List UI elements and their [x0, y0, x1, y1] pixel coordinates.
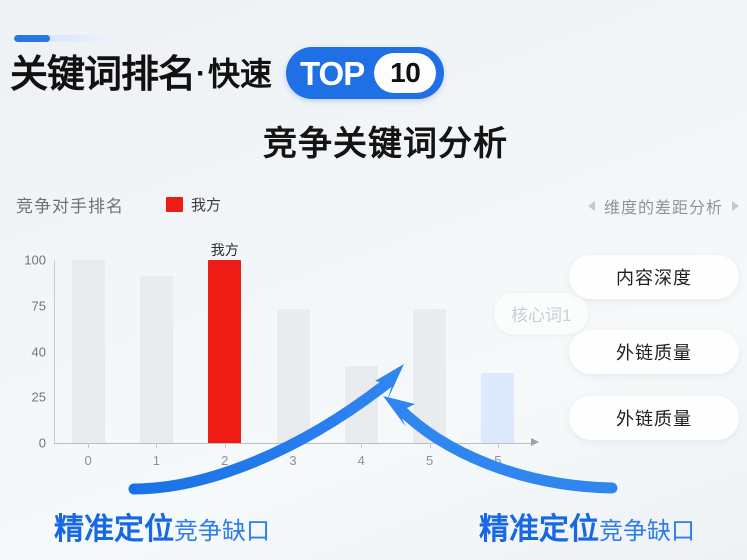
bar-competitor-1[interactable] — [140, 276, 173, 443]
header-progress-bar — [14, 35, 114, 42]
caption-left-weak: 竞争缺口 — [174, 511, 270, 546]
legend-item-label: 我方 — [191, 194, 221, 215]
x-axis-arrow-icon — [531, 438, 539, 446]
bar-competitor-5[interactable] — [413, 309, 446, 443]
bar-competitor-6[interactable] — [481, 373, 514, 443]
bar-competitor-3[interactable] — [277, 309, 310, 443]
x-axis-tick-3: 3 — [289, 453, 296, 468]
bar-highlight-label: 我方 — [211, 240, 239, 260]
x-axis-tick-mark-2 — [225, 443, 226, 448]
caption-left-strong: 精准定位 — [54, 504, 174, 548]
chevron-left-icon[interactable] — [588, 201, 595, 211]
caption-right-strong: 精准定位 — [479, 504, 599, 548]
dimension-pill-2[interactable]: 外链质量 — [569, 396, 739, 440]
y-axis-tick-3: 25 — [10, 390, 46, 405]
legend-swatch-icon — [166, 197, 183, 212]
x-axis-tick-mark-4 — [361, 443, 362, 448]
bar-competitor-0[interactable] — [72, 260, 105, 443]
dimension-panel-title: 维度的差距分析 — [604, 194, 723, 218]
x-axis-tick-2: 2 — [221, 453, 228, 468]
page-headline: 关键词排名 · 快速 — [10, 48, 272, 100]
x-axis-tick-mark-5 — [430, 443, 431, 448]
caption-right-weak: 竞争缺口 — [599, 511, 695, 546]
chart-bars-area: 我方 — [54, 248, 532, 443]
competitor-bar-chart: 1007540250 我方 0123455 — [0, 248, 545, 463]
chevron-right-icon[interactable] — [732, 201, 739, 211]
caption-right: 精准定位 竞争缺口 — [479, 504, 695, 548]
caption-left: 精准定位 竞争缺口 — [54, 504, 270, 548]
headline-main-text: 关键词排名 — [10, 55, 195, 93]
top-rank-badge-label: TOP — [300, 57, 364, 90]
x-axis-tick-0: 0 — [85, 453, 92, 468]
dimension-panel-header: 维度的差距分析 — [588, 194, 739, 218]
legend-item-mine[interactable]: 我方 — [166, 194, 221, 215]
x-axis-tick-mark-1 — [156, 443, 157, 448]
ghost-keyword-pill[interactable]: 核心词1 — [494, 293, 588, 334]
page-title: 竞争关键词分析 — [0, 116, 747, 165]
x-axis-tick-6: 5 — [494, 453, 501, 468]
y-axis-tick-0: 100 — [10, 253, 46, 268]
bar-highlight-mine[interactable] — [208, 260, 241, 443]
x-axis-tick-mark-3 — [293, 443, 294, 448]
dimension-pill-1[interactable]: 外链质量 — [569, 330, 739, 374]
top-rank-badge-number: 10 — [374, 53, 436, 93]
x-axis-tick-1: 1 — [153, 453, 160, 468]
chart-legend: 竞争对手排名 我方 — [16, 192, 221, 217]
dimension-pill-0[interactable]: 内容深度 — [569, 255, 739, 299]
x-axis-tick-mark-6 — [498, 443, 499, 448]
y-axis-tick-1: 75 — [10, 298, 46, 313]
x-axis-tick-4: 4 — [358, 453, 365, 468]
x-axis-tick-5: 5 — [426, 453, 433, 468]
headline-sub-text: 快速 — [208, 58, 272, 90]
header-progress-fill — [14, 35, 50, 42]
bar-competitor-4[interactable] — [345, 366, 378, 443]
headline-separator-dot: · — [196, 57, 206, 91]
y-axis-tick-4: 0 — [10, 436, 46, 451]
y-axis-tick-2: 40 — [10, 344, 46, 359]
chart-legend-title: 竞争对手排名 — [16, 192, 124, 217]
top-rank-badge[interactable]: TOP 10 — [286, 47, 444, 99]
x-axis-tick-mark-0 — [88, 443, 89, 448]
